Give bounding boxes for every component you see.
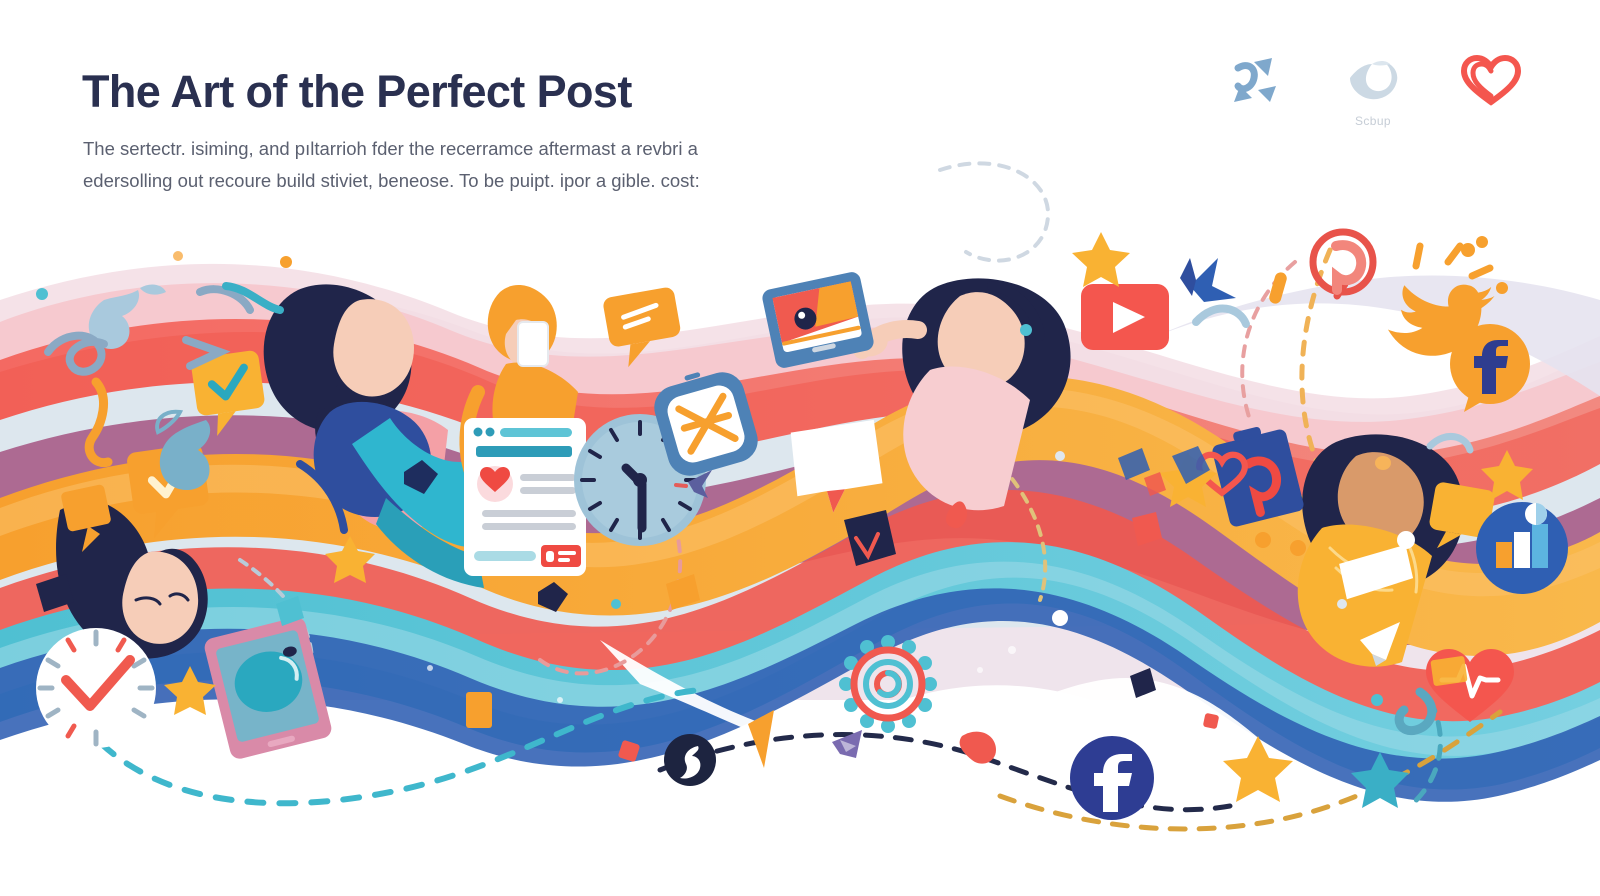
share-arrow-icon[interactable] [1224, 52, 1286, 136]
heart-outline-icon[interactable] [1460, 52, 1522, 136]
top-icon-row: Scbup [1224, 52, 1522, 136]
twitter-bird-icon[interactable]: Scbup [1342, 52, 1404, 136]
twitter-icon-label: Scbup [1342, 114, 1404, 128]
poster-canvas: The Art of the Perfect Post The sertectr… [0, 0, 1600, 896]
